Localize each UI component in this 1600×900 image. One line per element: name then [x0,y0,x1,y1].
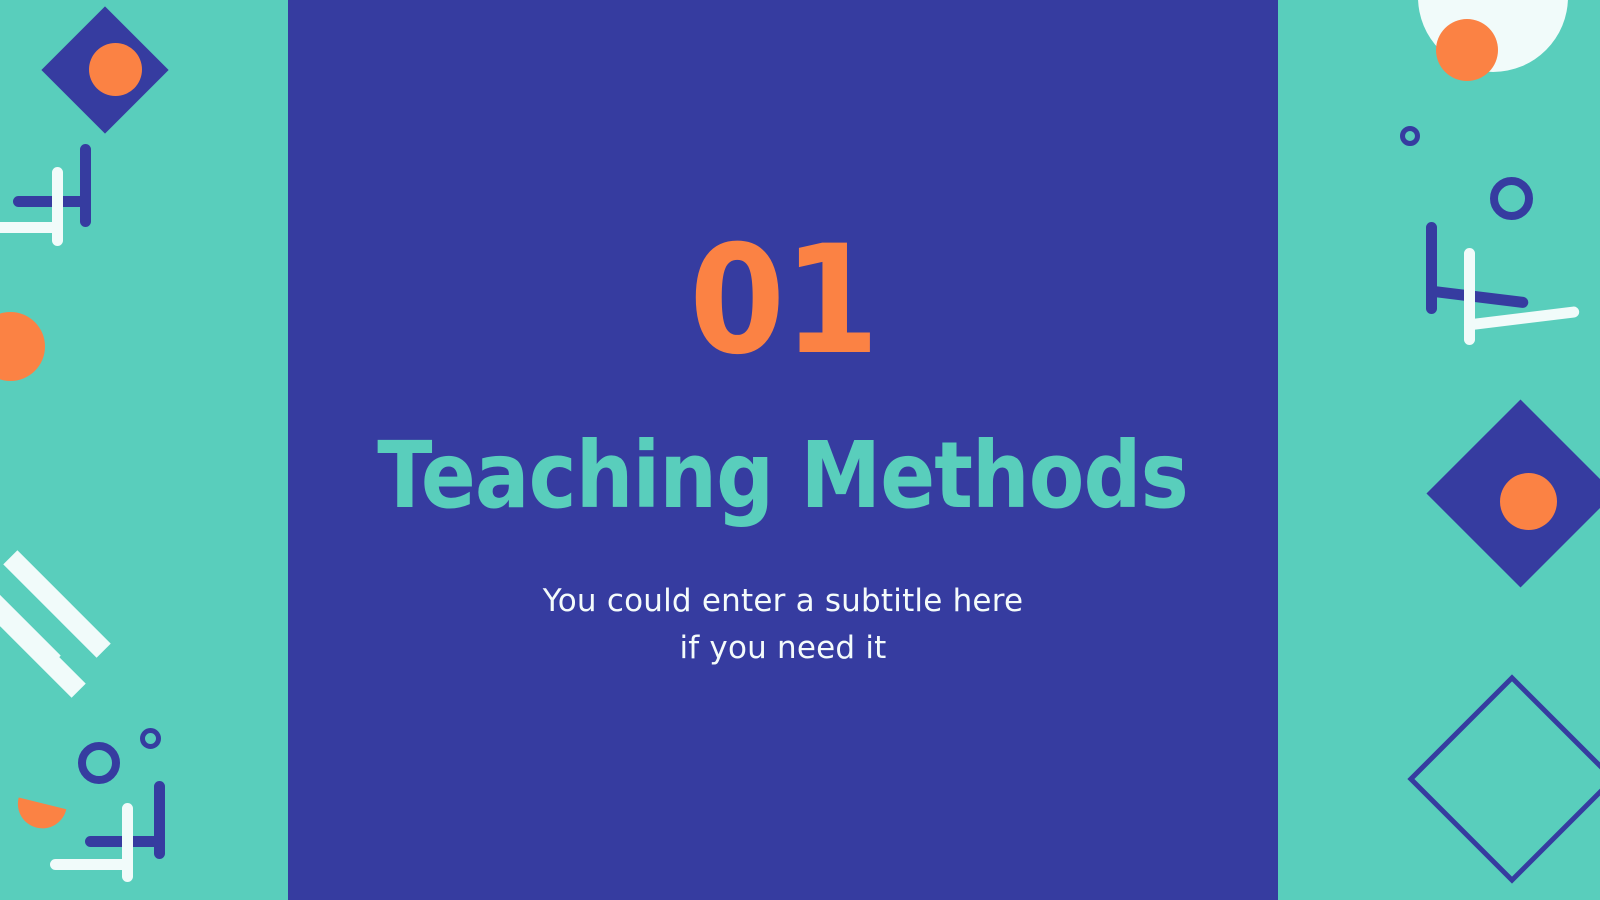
left-decoration-panel [0,0,288,900]
presentation-slide: 01 Teaching Methods You could enter a su… [0,0,1600,900]
slide-text-block: 01 Teaching Methods You could enter a su… [288,0,1278,900]
bracket-white-right-horizontal [1463,306,1579,331]
diamond-inner-circle-icon [89,43,142,96]
slide-content-panel: 01 Teaching Methods You could enter a su… [288,0,1278,900]
half-circle-orange-icon [13,797,67,833]
bracket-blue-right-horizontal [1425,285,1529,308]
bracket-blue-lower-vertical [154,781,165,859]
diamond-right-inner-circle-icon [1500,473,1557,530]
ring-small-icon [140,728,161,749]
bracket-white-vertical [52,167,63,246]
diamond-outline-shape [1407,674,1600,883]
circle-orange-clipped-icon [0,312,45,381]
section-number: 01 [689,226,877,376]
right-decoration-panel [1278,0,1600,900]
slide-subtitle-line-1: You could enter a subtitle here [543,583,1023,619]
bracket-white-lower-vertical [122,803,133,882]
slide-title: Teaching Methods [378,430,1189,522]
bracket-white-right-vertical [1464,248,1475,345]
bracket-white-lower-horizontal [50,859,133,870]
circle-orange-top-icon [1436,19,1498,81]
slide-subtitle-line-2: if you need it [679,630,886,666]
ring-small-upper-icon [1400,126,1420,146]
bracket-blue-right-vertical [1426,222,1437,314]
ring-medium-icon [1490,177,1533,220]
bracket-white-horizontal [0,222,63,233]
ring-large-icon [78,742,120,784]
slide-subtitle: You could enter a subtitle here if you n… [543,578,1023,672]
bracket-blue-vertical [80,144,91,227]
